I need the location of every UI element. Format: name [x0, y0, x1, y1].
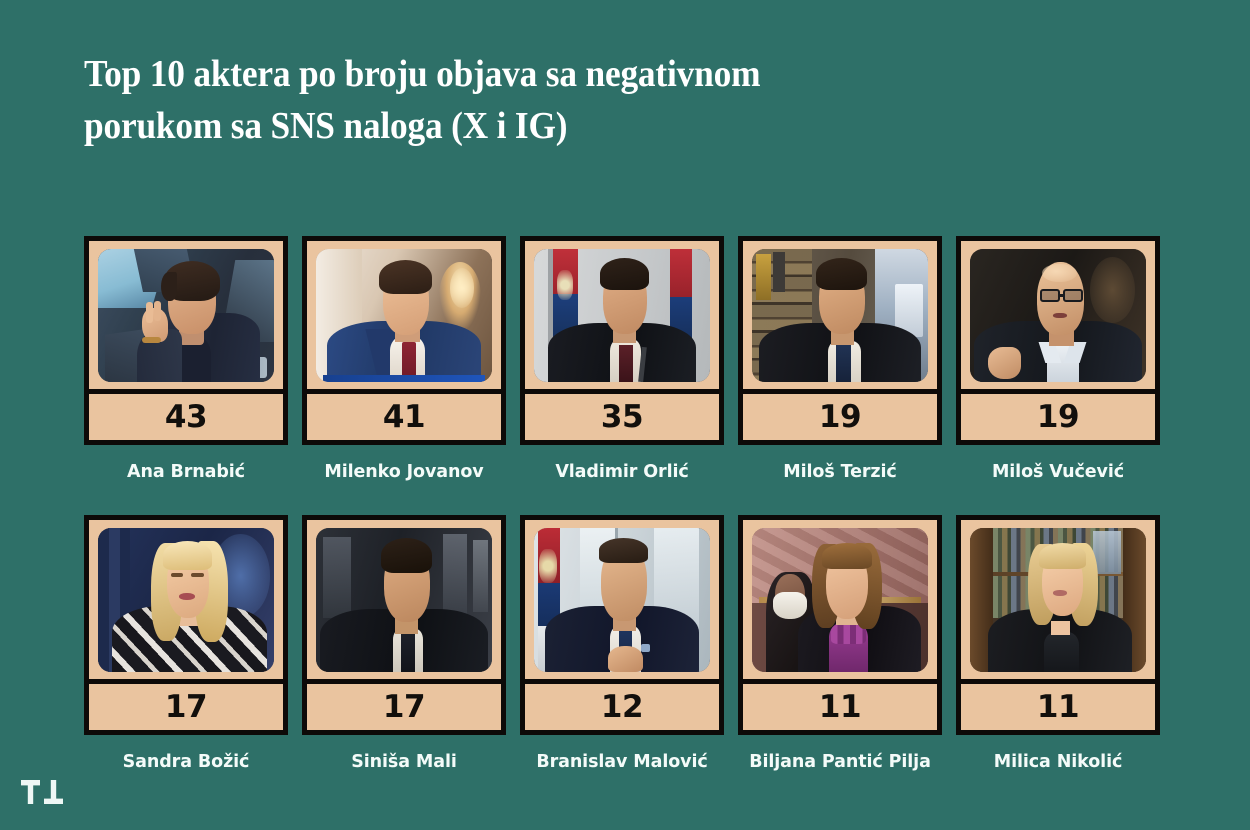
count-value: 19	[819, 399, 861, 435]
actor-card[interactable]: 11	[956, 515, 1160, 735]
actor-name: Ana Brnabić	[71, 460, 301, 485]
actor-cell: 12 Branislav Malović	[520, 515, 724, 775]
photo-container	[89, 520, 283, 679]
count-value: 41	[383, 399, 425, 435]
portrait-milenko-jovanov	[316, 249, 492, 382]
actor-cell: 17 Siniša Mali	[302, 515, 506, 775]
actor-cell: 19 Miloš Terzić	[738, 236, 942, 485]
photo-container	[961, 520, 1155, 679]
actor-name: Siniša Mali	[289, 750, 519, 775]
count-value: 19	[1037, 399, 1079, 435]
ranking-row-1: 43 Ana Brnabić	[84, 236, 1158, 485]
photo-container	[307, 520, 501, 679]
actor-cell: 17 Sandra Božić	[84, 515, 288, 775]
portrait-milos-terzic	[752, 249, 928, 382]
actor-card[interactable]: 19	[738, 236, 942, 445]
actor-name: Branislav Malović	[507, 750, 737, 775]
portrait-sandra-bozic	[98, 528, 274, 672]
page-title-line-2: porukom sa SNS naloga (X i IG)	[84, 100, 977, 152]
count-value: 12	[601, 689, 643, 725]
actor-name: Miloš Terzić	[725, 460, 955, 485]
photo-container	[307, 241, 501, 389]
page-title-line-1: Top 10 aktera po broju objava sa negativ…	[84, 48, 977, 100]
actor-card[interactable]: 19	[956, 236, 1160, 445]
actor-cell: 35 Vladimir Orlić	[520, 236, 724, 485]
photo-container	[525, 520, 719, 679]
portrait-vladimir-orlic	[534, 249, 710, 382]
ranking-grid: 43 Ana Brnabić	[84, 236, 1158, 776]
photo-container	[89, 241, 283, 389]
photo-container	[525, 241, 719, 389]
actor-card[interactable]: 41	[302, 236, 506, 445]
page-title: Top 10 aktera po broju objava sa negativ…	[84, 48, 977, 153]
portrait-milica-nikolic	[970, 528, 1146, 672]
count-container: 17	[89, 684, 283, 730]
photo-container	[743, 241, 937, 389]
actor-name: Vladimir Orlić	[507, 460, 737, 485]
portrait-milos-vucevic	[970, 249, 1146, 382]
count-container: 35	[525, 394, 719, 440]
actor-cell: 11 Milica Nikolić	[956, 515, 1160, 775]
actor-card[interactable]: 35	[520, 236, 724, 445]
actor-cell: 11 Biljana Pantić Pilja	[738, 515, 942, 775]
count-container: 12	[525, 684, 719, 730]
actor-card[interactable]: 12	[520, 515, 724, 735]
count-container: 11	[961, 684, 1155, 730]
actor-name: Sandra Božić	[71, 750, 301, 775]
count-value: 17	[165, 689, 207, 725]
actor-name: Miloš Vučević	[943, 460, 1173, 485]
actor-name: Milica Nikolić	[943, 750, 1173, 775]
count-value: 17	[383, 689, 425, 725]
photo-container	[743, 520, 937, 679]
count-container: 19	[743, 394, 937, 440]
count-value: 43	[165, 399, 207, 435]
portrait-sinisa-mali	[316, 528, 492, 672]
count-container: 43	[89, 394, 283, 440]
portrait-branislav-malovic	[534, 528, 710, 672]
photo-container	[961, 241, 1155, 389]
ranking-row-2: 17 Sandra Božić	[84, 515, 1158, 775]
count-container: 41	[307, 394, 501, 440]
actor-card[interactable]: 43	[84, 236, 288, 445]
actor-name: Milenko Jovanov	[289, 460, 519, 485]
actor-card[interactable]: 17	[84, 515, 288, 735]
talas-logo[interactable]	[21, 778, 65, 808]
count-container: 11	[743, 684, 937, 730]
portrait-biljana-pantic-pilja	[752, 528, 928, 672]
actor-card[interactable]: 11	[738, 515, 942, 735]
count-value: 11	[819, 689, 861, 725]
actor-cell: 19 Miloš Vučević	[956, 236, 1160, 485]
actor-cell: 41 Milenko Jovanov	[302, 236, 506, 485]
actor-name: Biljana Pantić Pilja	[725, 750, 955, 775]
actor-cell: 43 Ana Brnabić	[84, 236, 288, 485]
count-value: 11	[1037, 689, 1079, 725]
portrait-ana-brnabic	[98, 249, 274, 382]
count-value: 35	[601, 399, 643, 435]
count-container: 19	[961, 394, 1155, 440]
count-container: 17	[307, 684, 501, 730]
actor-card[interactable]: 17	[302, 515, 506, 735]
